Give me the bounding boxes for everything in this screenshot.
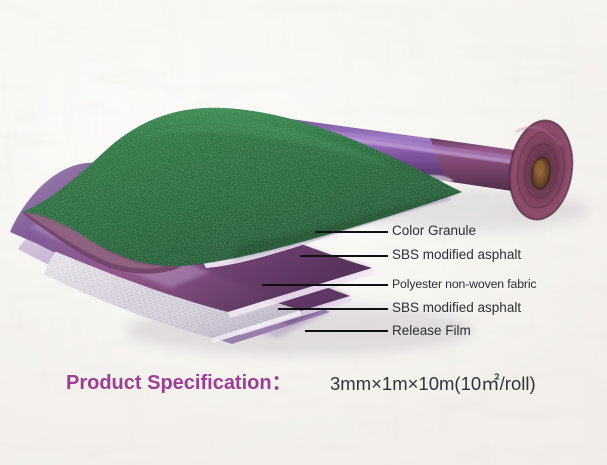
specification-title: Product Specification： xyxy=(66,370,292,397)
callout-label-release-film: Release Film xyxy=(392,324,471,338)
callout-label-sbs-modified-asphalt-top: SBS modified asphalt xyxy=(392,248,521,262)
product-specification-row: Product Specification： 3mm×1m×10m(10㎡/ro… xyxy=(0,370,607,402)
product-diagram-image: Color Granule SBS modified asphalt Polye… xyxy=(0,0,607,465)
callout-label-sbs-modified-asphalt-bottom: SBS modified asphalt xyxy=(392,301,521,315)
callout-label-polyester-non-woven: Polyester non-woven fabric xyxy=(392,278,536,290)
callout-label-color-granule: Color Granule xyxy=(392,224,476,238)
specification-value: 3mm×1m×10m(10㎡/roll) xyxy=(330,372,536,397)
